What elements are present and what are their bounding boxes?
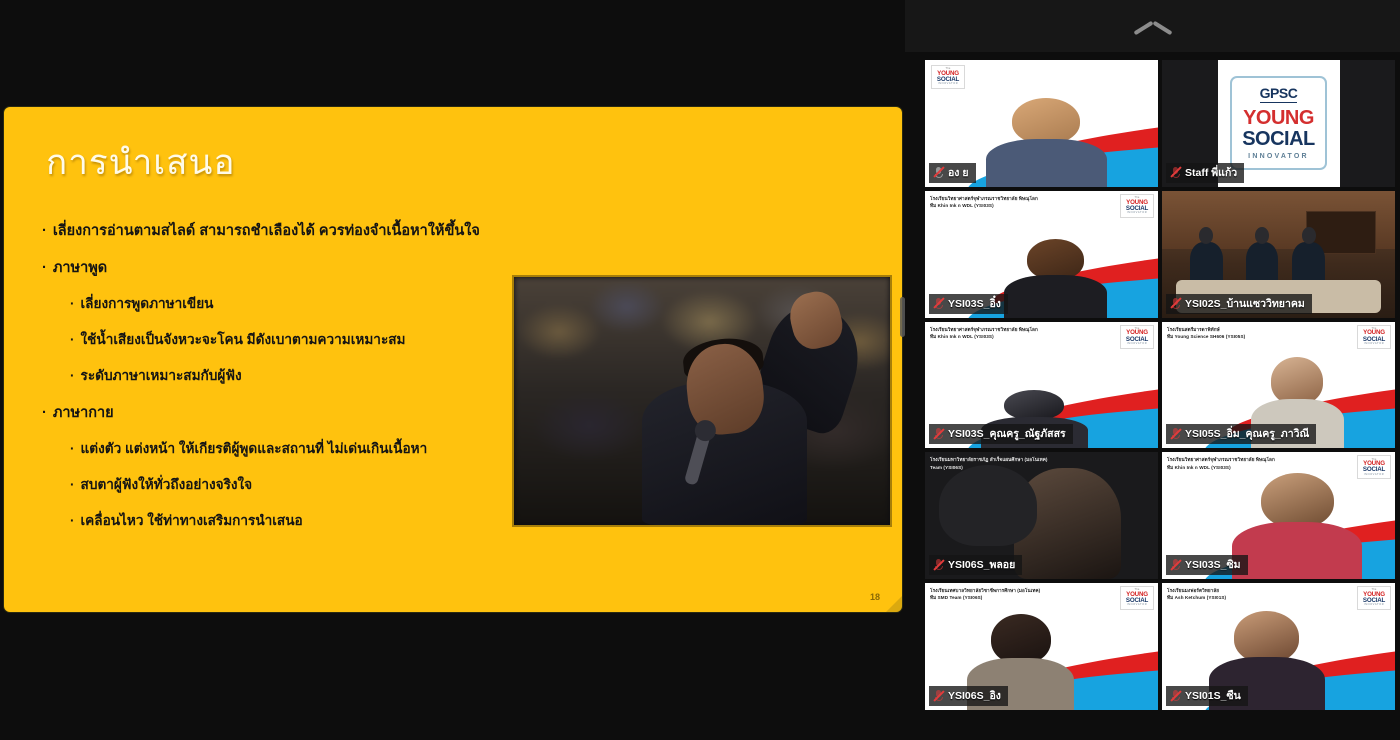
slide-speaker-photo xyxy=(514,277,890,525)
participant-name-bar: YSI05S_อิ่ม_คุณครู_ภาวิณี xyxy=(1166,424,1316,444)
meeting-window: การนำเสนอ ·เลี่ยงการอ่านตามสไลด์ สามารถช… xyxy=(0,0,1400,740)
ysi-logo-badge: The YOUNG SOCIAL INNOVATOR xyxy=(1120,586,1154,610)
mic-muted-icon xyxy=(933,427,944,440)
bullet-dot-icon: · xyxy=(70,477,75,492)
shared-screen-stage: การนำเสนอ ·เลี่ยงการอ่านตามสไลด์ สามารถช… xyxy=(0,52,905,740)
participant-tile[interactable]: โรงเรียนสตรีมารดาพิทักษ์ทีม Young Scienc… xyxy=(1162,322,1395,449)
slide-page-number: 18 xyxy=(870,592,880,602)
collapse-gallery-bar[interactable] xyxy=(905,0,1400,52)
bullet-dot-icon: · xyxy=(42,405,47,421)
participant-name-bar: YSI06S_อิง xyxy=(929,686,1008,706)
participant-name: YSI06S_พลอย xyxy=(948,556,1015,573)
participant-name-bar: YSI03S_อิ๋ง xyxy=(929,294,1008,314)
mic-muted-icon xyxy=(1170,689,1181,702)
mic-muted-icon xyxy=(1170,427,1181,440)
participant-tile[interactable]: YSI02S_บ้านแซววิทยาคม xyxy=(1162,191,1395,318)
mic-muted-icon xyxy=(933,689,944,702)
mic-muted-icon xyxy=(1170,558,1181,571)
bullet-dot-icon: · xyxy=(70,441,75,456)
tile-header-text: โรงเรียนวิทยาศาสตร์จุฬาภรณราชวิทยาลัย พิ… xyxy=(930,326,1110,340)
participant-tile[interactable]: โรงเรียนมหาวิทยาลัยราชภัฏ สำเร็จแผนศึกษา… xyxy=(925,452,1158,579)
participant-name-bar: YSI03S_คุณครู_ณัฐภัสสร xyxy=(929,424,1073,444)
participant-name-bar: อง ย xyxy=(929,163,976,183)
slide-corner-fold xyxy=(886,596,902,612)
mic-muted-icon xyxy=(933,166,944,179)
tile-header-text: โรงเรียนมหาวิทยาลัยราชภัฏ สำเร็จแผนศึกษา… xyxy=(930,456,1110,470)
ysi-logo-badge: The YOUNG SOCIAL INNOVATOR xyxy=(1357,586,1391,610)
participant-tile[interactable]: The YOUNG SOCIAL INNOVATOR อง ย xyxy=(925,60,1158,187)
participant-name: YSI03S_คุณครู_ณัฐภัสสร xyxy=(948,425,1066,442)
participant-tile[interactable]: โรงเรียนวิทยาศาสตร์จุฬาภรณราชวิทยาลัย พิ… xyxy=(925,322,1158,449)
participant-tile[interactable]: โรงเรียนมงฟอร์ตวิทยาลัยทีม Ash Ketchum (… xyxy=(1162,583,1395,710)
participant-name: YSI05S_อิ่ม_คุณครู_ภาวิณี xyxy=(1185,425,1309,442)
participant-gallery: The YOUNG SOCIAL INNOVATOR อง ย GPSC YOU… xyxy=(925,60,1400,710)
bullet-dot-icon: · xyxy=(70,513,75,528)
participant-name: YSI03S_ซิม xyxy=(1185,556,1241,573)
mic-muted-icon xyxy=(933,297,944,310)
participant-name: YSI03S_อิ๋ง xyxy=(948,295,1001,312)
ysi-logo-badge: The YOUNG SOCIAL INNOVATOR xyxy=(931,65,965,89)
ysi-logo-badge: The YOUNG SOCIAL INNOVATOR xyxy=(1120,325,1154,349)
mic-muted-icon xyxy=(1170,297,1181,310)
participant-name-bar: YSI01S_ซืน xyxy=(1166,686,1248,706)
bullet-dot-icon: · xyxy=(70,332,75,347)
participant-name: YSI06S_อิง xyxy=(948,687,1001,704)
participant-name: YSI02S_บ้านแซววิทยาคม xyxy=(1185,295,1305,312)
participant-tile[interactable]: GPSC YOUNG SOCIAL INNOVATOR Staff พี่แก้… xyxy=(1162,60,1395,187)
participant-name-bar: YSI06S_พลอย xyxy=(929,555,1022,575)
participant-name-bar: Staff พี่แก้ว xyxy=(1166,163,1244,183)
bullet-item: ·เลี่ยงการอ่านตามสไลด์ สามารถชำเลืองได้ … xyxy=(42,222,582,240)
participant-name: YSI01S_ซืน xyxy=(1185,687,1241,704)
participant-tile[interactable]: โรงเรียนวิทยาศาสตร์จุฬาภรณราชวิทยาลัย พิ… xyxy=(1162,452,1395,579)
tile-header-text: โรงเรียนสตรีมารดาพิทักษ์ทีม Young Scienc… xyxy=(1167,326,1347,340)
mic-muted-icon xyxy=(1170,166,1181,179)
participant-name-bar: YSI03S_ซิม xyxy=(1166,555,1248,575)
participant-tile[interactable]: โรงเรียนเทศบาลวิทยาลัยวิชาชีพการศึกษา (ม… xyxy=(925,583,1158,710)
ysi-logo-badge: The YOUNG SOCIAL INNOVATOR xyxy=(1357,455,1391,479)
presentation-slide: การนำเสนอ ·เลี่ยงการอ่านตามสไลด์ สามารถช… xyxy=(4,107,902,612)
tile-header-text: โรงเรียนมงฟอร์ตวิทยาลัยทีม Ash Ketchum (… xyxy=(1167,587,1347,601)
bullet-item: ·ภาษาพูด xyxy=(42,259,602,277)
chevron-up-icon[interactable] xyxy=(1133,15,1173,37)
participant-name: อง ย xyxy=(948,164,969,181)
bullet-dot-icon: · xyxy=(70,296,75,311)
bullet-dot-icon: · xyxy=(70,368,75,383)
screen-share-scroll-handle[interactable] xyxy=(900,297,905,337)
tile-header-text: โรงเรียนเทศบาลวิทยาลัยวิชาชีพการศึกษา (ม… xyxy=(930,587,1110,601)
mic-muted-icon xyxy=(933,558,944,571)
participant-tile[interactable]: โรงเรียนวิทยาศาสตร์จุฬาภรณราชวิทยาลัย พิ… xyxy=(925,191,1158,318)
ysi-logo-badge: The YOUNG SOCIAL INNOVATOR xyxy=(1357,325,1391,349)
participant-name-bar: YSI02S_บ้านแซววิทยาคม xyxy=(1166,294,1312,314)
tile-header-text: โรงเรียนวิทยาศาสตร์จุฬาภรณราชวิทยาลัย พิ… xyxy=(930,195,1110,209)
tile-header-text: โรงเรียนวิทยาศาสตร์จุฬาภรณราชวิทยาลัย พิ… xyxy=(1167,456,1347,470)
bullet-dot-icon: · xyxy=(42,223,47,239)
participant-name: Staff พี่แก้ว xyxy=(1185,164,1237,181)
ysi-logo-badge: The YOUNG SOCIAL INNOVATOR xyxy=(1120,194,1154,218)
slide-title: การนำเสนอ xyxy=(46,135,236,190)
bullet-dot-icon: · xyxy=(42,260,47,276)
